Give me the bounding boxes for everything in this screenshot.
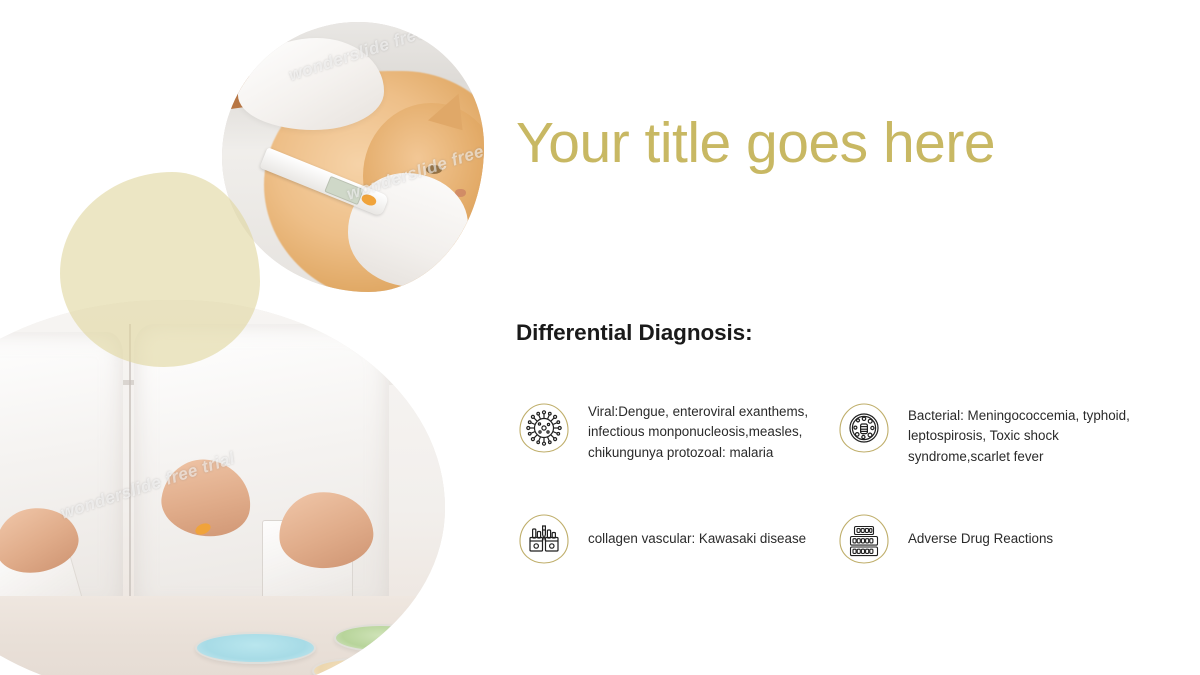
petri-dish-blue bbox=[195, 632, 316, 664]
list-item: Viral:Dengue, enteroviral exanthems, inf… bbox=[516, 400, 826, 467]
list-item: Bacterial: Meningococcemia, typhoid, lep… bbox=[836, 400, 1146, 467]
page-title: Your title goes here bbox=[516, 112, 995, 176]
visual-column: wonderslide free trial wonderslide free … bbox=[0, 0, 500, 675]
thermometer-button bbox=[360, 192, 377, 206]
diagnosis-list: Viral:Dengue, enteroviral exanthems, inf… bbox=[516, 400, 1166, 567]
content-column: Your title goes here Differential Diagno… bbox=[516, 0, 1166, 675]
coat-divider bbox=[129, 324, 131, 612]
cat-scene: wonderslide free trial wonderslide free … bbox=[222, 22, 484, 292]
lab-pharmacy-photo: wonderslide free trial bbox=[0, 300, 445, 675]
list-item-label: Bacterial: Meningococcemia, typhoid, lep… bbox=[908, 400, 1146, 467]
list-item-label: Adverse Drug Reactions bbox=[908, 529, 1053, 549]
cat-thermometer-photo: wonderslide free trial wonderslide free … bbox=[222, 22, 484, 292]
bacteria-cell-icon bbox=[836, 400, 892, 456]
list-item: collagen vascular: Kawasaki disease bbox=[516, 511, 826, 567]
list-item-label: Viral:Dengue, enteroviral exanthems, inf… bbox=[588, 400, 826, 463]
petri-dish-green bbox=[334, 624, 427, 652]
lab-scene: wonderslide free trial bbox=[0, 300, 445, 675]
list-item-label: collagen vascular: Kawasaki disease bbox=[588, 529, 806, 549]
presentation-slide: wonderslide free trial wonderslide free … bbox=[0, 0, 1200, 675]
list-item: Adverse Drug Reactions bbox=[836, 511, 1146, 567]
section-heading: Differential Diagnosis: bbox=[516, 320, 753, 346]
medical-vial-kit-icon bbox=[516, 511, 572, 567]
virus-icon bbox=[516, 400, 572, 456]
pill-blister-pack-icon bbox=[836, 511, 892, 567]
